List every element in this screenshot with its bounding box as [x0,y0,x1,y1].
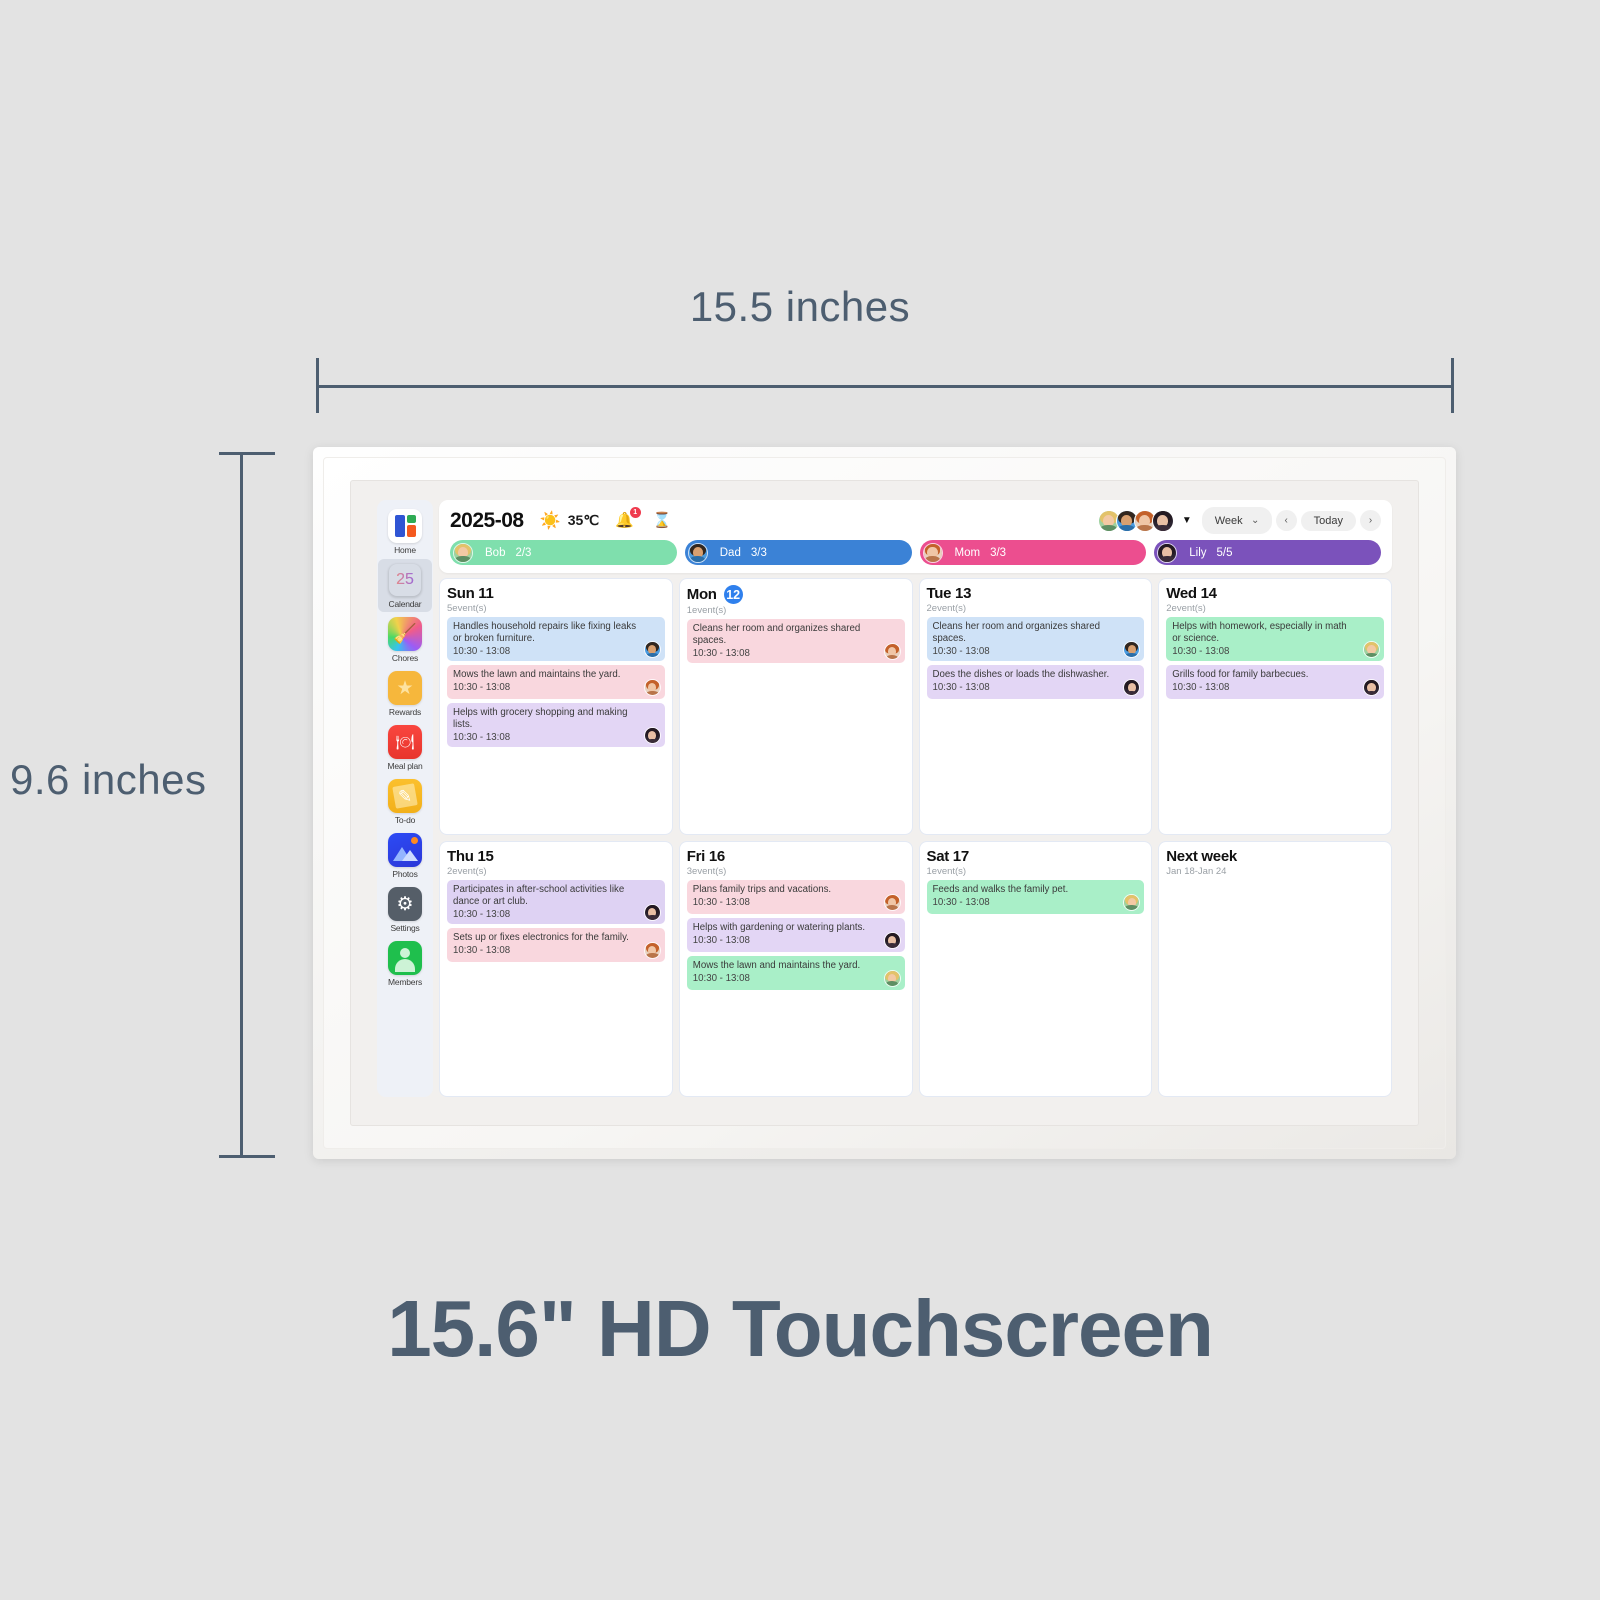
event-text: Plans family trips and vacations. [693,884,899,896]
day-header: Tue 13 [927,585,1145,602]
avatar [644,727,661,744]
event-text: Mows the lawn and maintains the yard. [453,669,659,681]
avatar [644,641,661,658]
height-dimension-cap-bottom [219,1155,275,1158]
device-bezel: Home25Calendar🧹Chores★Rewards🍽Meal plan✎… [323,457,1446,1149]
header-top-row: 2025-08 ☀️ 35℃ 🔔 1 ⌛ [450,507,1381,534]
sidebar-item-label: Chores [392,653,418,663]
avatar [644,942,661,959]
day-title: Mon [687,586,717,603]
event-list: Participates in after-school activities … [447,880,665,962]
event-text: Handles household repairs like fixing le… [453,621,659,645]
day-subtitle: 2event(s) [447,866,665,877]
member-chip-name: Bob [485,547,505,559]
temperature-value: 35℃ [568,512,599,529]
pencil-note-icon: ✎ [388,779,422,813]
event-time: 10:30 - 13:08 [693,973,899,984]
event-time: 10:30 - 13:08 [1172,646,1378,657]
width-dimension-cap-right [1451,358,1454,413]
member-chip-name: Mom [955,547,981,559]
event-list: Helps with homework, especially in math … [1166,617,1384,699]
sidebar-item-label: Photos [392,869,417,879]
event-card[interactable]: Sets up or fixes electronics for the fam… [447,928,665,962]
day-cell[interactable]: Wed 142event(s)Helps with homework, espe… [1158,578,1392,835]
sidebar-item-meal-plan[interactable]: 🍽Meal plan [378,721,432,774]
day-header: Thu 15 [447,848,665,865]
event-text: Does the dishes or loads the dishwasher. [933,669,1139,681]
avatar [688,543,708,563]
day-cell[interactable]: Tue 132event(s)Cleans her room and organ… [919,578,1153,835]
month-title: 2025-08 [450,509,524,533]
event-card[interactable]: Mows the lawn and maintains the yard.10:… [447,665,665,699]
event-card[interactable]: Grills food for family barbecues.10:30 -… [1166,665,1384,699]
event-text: Feeds and walks the family pet. [933,884,1139,896]
event-card[interactable]: Cleans her room and organizes shared spa… [927,617,1145,661]
broom-icon: 🧹 [388,617,422,651]
event-time: 10:30 - 13:08 [1172,682,1378,693]
event-card[interactable]: Plans family trips and vacations.10:30 -… [687,880,905,914]
height-dimension-label: 9.6 inches [10,756,206,804]
event-text: Helps with gardening or watering plants. [693,922,899,934]
next-week-button[interactable]: › [1360,510,1381,531]
height-dimension-line [240,452,243,1158]
event-time: 10:30 - 13:08 [453,646,659,657]
day-cell[interactable]: Sun 115event(s)Handles household repairs… [439,578,673,835]
day-subtitle: 1event(s) [687,605,905,616]
day-subtitle: 2event(s) [927,603,1145,614]
notification-bell-button[interactable]: 🔔 1 [615,512,634,530]
day-header: Sun 11 [447,585,665,602]
sidebar-item-label: Meal plan [387,761,422,771]
event-time: 10:30 - 13:08 [933,646,1139,657]
day-subtitle: 2event(s) [1166,603,1384,614]
day-header: Mon12 [687,585,905,604]
prev-week-button[interactable]: ‹ [1276,510,1297,531]
event-time: 10:30 - 13:08 [933,682,1139,693]
event-card[interactable]: Feeds and walks the family pet.10:30 - 1… [927,880,1145,914]
device-frame: Home25Calendar🧹Chores★Rewards🍽Meal plan✎… [313,447,1456,1159]
avatar [884,894,901,911]
event-card[interactable]: Helps with grocery shopping and making l… [447,703,665,747]
day-header: Fri 16 [687,848,905,865]
event-list: Cleans her room and organizes shared spa… [687,619,905,663]
event-text: Mows the lawn and maintains the yard. [693,960,899,972]
hero-caption: 15.6" HD Touchscreen [0,1283,1600,1375]
day-header: Wed 14 [1166,585,1384,602]
avatar [644,679,661,696]
day-title: Tue 13 [927,585,972,602]
avatar [1123,641,1140,658]
day-header: Next week [1166,848,1384,865]
member-chip-mom[interactable]: Mom3/3 [920,540,1147,565]
event-list: Plans family trips and vacations.10:30 -… [687,880,905,990]
event-list: Feeds and walks the family pet.10:30 - 1… [927,880,1145,914]
chevron-down-icon[interactable]: ⌄ [1245,510,1266,531]
hourglass-icon[interactable]: ⌛ [653,513,672,528]
avatar [1363,679,1380,696]
event-time: 10:30 - 13:08 [933,897,1139,908]
header-card: 2025-08 ☀️ 35℃ 🔔 1 ⌛ [439,500,1392,573]
member-chip-lily[interactable]: Lily5/5 [1154,540,1381,565]
day-title: Sat 17 [927,848,969,865]
day-title: Next week [1166,848,1237,865]
event-card[interactable]: Helps with homework, especially in math … [1166,617,1384,661]
height-dimension-cap-top [219,452,275,455]
sidebar-item-members[interactable]: Members [378,937,432,990]
day-subtitle: Jan 18-Jan 24 [1166,866,1384,877]
day-title: Fri 16 [687,848,725,865]
event-time: 10:30 - 13:08 [693,935,899,946]
bell-badge: 1 [630,507,641,518]
member-chip-count: 2/3 [515,547,531,559]
sidebar-item-label: Home [394,545,416,555]
member-chip-count: 3/3 [990,547,1006,559]
star-icon: ★ [388,671,422,705]
avatar [923,543,943,563]
caret-down-icon[interactable]: ▼ [1182,515,1192,526]
event-text: Grills food for family barbecues. [1172,669,1378,681]
day-cell[interactable]: Mon121event(s)Cleans her room and organi… [679,578,913,835]
member-chips-row: Bob2/3Dad3/3Mom3/3Lily5/5 [450,540,1381,565]
main-area: 2025-08 ☀️ 35℃ 🔔 1 ⌛ [439,500,1392,1097]
day-header: Sat 17 [927,848,1145,865]
event-time: 10:30 - 13:08 [453,732,659,743]
member-chip-dad[interactable]: Dad3/3 [685,540,912,565]
view-select-label: Week [1215,515,1243,527]
today-button[interactable]: Today [1301,511,1356,531]
width-dimension-cap-left [316,358,319,413]
day-subtitle: 3event(s) [687,866,905,877]
event-time: 10:30 - 13:08 [453,945,659,956]
width-dimension-line [316,385,1454,388]
sidebar-item-label: Calendar [389,599,422,609]
sidebar-item-home[interactable]: Home [378,505,432,558]
header-controls: ▼ Week ⌄ ‹ Today › [1098,507,1381,534]
sidebar-item-label: Settings [390,923,419,933]
member-chip-count: 3/3 [751,547,767,559]
width-dimension-label: 15.5 inches [0,283,1600,331]
home-grid-icon [388,509,422,543]
avatar [1152,510,1174,532]
event-list: Cleans her room and organizes shared spa… [927,617,1145,699]
member-chip-name: Dad [720,547,741,559]
avatar [1157,543,1177,563]
sidebar-item-label: Rewards [389,707,421,717]
gear-icon: ⚙ [388,887,422,921]
avatar [1363,641,1380,658]
event-time: 10:30 - 13:08 [693,648,899,659]
event-card[interactable]: Does the dishes or loads the dishwasher.… [927,665,1145,699]
member-avatar-stack[interactable] [1098,510,1174,532]
day-subtitle: 5event(s) [447,603,665,614]
weather-widget: ☀️ 35℃ [540,512,599,529]
sidebar-item-label: To-do [395,815,415,825]
calendar-grid: Sun 115event(s)Handles household repairs… [439,578,1392,1097]
day-title: Sun 11 [447,585,494,602]
day-cell[interactable]: Fri 163event(s)Plans family trips and va… [679,841,913,1098]
event-text: Helps with homework, especially in math … [1172,621,1378,645]
event-text: Helps with grocery shopping and making l… [453,707,659,731]
avatar [1123,894,1140,911]
event-time: 10:30 - 13:08 [453,682,659,693]
sidebar-item-label: Members [388,977,422,987]
event-card[interactable]: Cleans her room and organizes shared spa… [687,619,905,663]
avatar [884,932,901,949]
member-chip-count: 5/5 [1217,547,1233,559]
event-card[interactable]: Participates in after-school activities … [447,880,665,924]
avatar [453,543,473,563]
sidebar-item-photos[interactable]: Photos [378,829,432,882]
person-icon [388,941,422,975]
photo-icon [388,833,422,867]
sidebar: Home25Calendar🧹Chores★Rewards🍽Meal plan✎… [377,500,433,1097]
view-select[interactable]: Week ⌄ [1202,507,1272,534]
event-time: 10:30 - 13:08 [453,909,659,920]
event-text: Sets up or fixes electronics for the fam… [453,932,659,944]
day-subtitle: 1event(s) [927,866,1145,877]
day-title: Wed 14 [1166,585,1216,602]
event-time: 10:30 - 13:08 [693,897,899,908]
event-card[interactable]: Mows the lawn and maintains the yard.10:… [687,956,905,990]
day-cell[interactable]: Thu 152event(s)Participates in after-sch… [439,841,673,1098]
event-text: Participates in after-school activities … [453,884,659,908]
calendar-app: Home25Calendar🧹Chores★Rewards🍽Meal plan✎… [377,500,1392,1097]
member-chip-bob[interactable]: Bob2/3 [450,540,677,565]
today-date-badge: 12 [724,585,743,604]
sidebar-item-settings[interactable]: ⚙Settings [378,883,432,936]
avatar [644,904,661,921]
cloche-icon: 🍽 [388,725,422,759]
sidebar-item-calendar[interactable]: 25Calendar [378,559,432,612]
sidebar-item-rewards[interactable]: ★Rewards [378,667,432,720]
avatar [884,970,901,987]
day-cell[interactable]: Next weekJan 18-Jan 24 [1158,841,1392,1098]
calendar-25-icon: 25 [388,563,422,597]
event-card[interactable]: Handles household repairs like fixing le… [447,617,665,661]
sun-icon: ☀️ [540,512,561,529]
day-title: Thu 15 [447,848,494,865]
sidebar-item-to-do[interactable]: ✎To-do [378,775,432,828]
avatar [884,643,901,660]
avatar [1123,679,1140,696]
member-chip-name: Lily [1189,547,1206,559]
event-text: Cleans her room and organizes shared spa… [693,623,899,647]
event-list: Handles household repairs like fixing le… [447,617,665,747]
device-screen: Home25Calendar🧹Chores★Rewards🍽Meal plan✎… [350,480,1419,1126]
event-card[interactable]: Helps with gardening or watering plants.… [687,918,905,952]
sidebar-item-chores[interactable]: 🧹Chores [378,613,432,666]
day-cell[interactable]: Sat 171event(s)Feeds and walks the famil… [919,841,1153,1098]
event-text: Cleans her room and organizes shared spa… [933,621,1139,645]
